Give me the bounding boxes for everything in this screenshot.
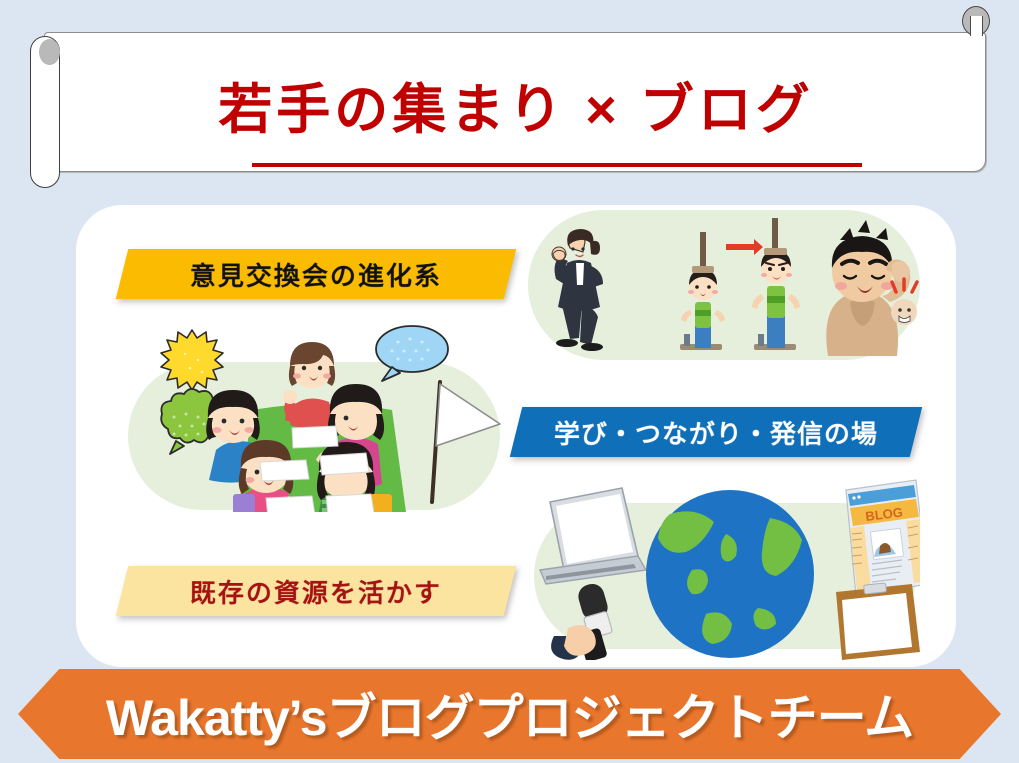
banner-learn-label: 学び・つながり・発信の場 [554,414,878,451]
banner-resource: 既存の資源を活かす [116,566,516,616]
muscular-man-flexing-icon [826,220,917,356]
footer-banner: Wakatty’sブログプロジェクトチーム [18,669,1001,759]
scroll-paper: 若手の集まり × ブログ [44,32,986,172]
outreach-illustration: BLOG [520,478,920,660]
clipboard-icon [836,583,920,660]
workshop-discussion-icon [206,342,406,512]
meeting-illustration [140,322,510,512]
banner-learn: 学び・つながり・発信の場 [510,407,922,457]
laptop-icon [540,488,646,584]
scroll-roll-left-icon [30,36,60,188]
team-name: Wakatty’sブログプロジェクトチーム [106,678,913,750]
blue-speech-bubble-icon [376,326,448,381]
globe-earth-icon [646,490,814,658]
header-scroll-banner: 若手の集まり × ブログ [0,0,1019,196]
banner-ideas-label: 意見交換会の進化系 [190,256,442,293]
businesswoman-cheering-icon [552,229,603,351]
banner-ideas: 意見交換会の進化系 [116,249,516,299]
pennant-flag-icon [432,382,500,502]
starburst-icon [161,330,223,390]
blog-webpage-icon: BLOG [846,480,920,596]
children-height-growth-icon [680,218,800,350]
banner-resource-label: 既存の資源を活かす [190,573,442,610]
growth-illustration [540,206,920,364]
microphone-in-hand-icon [551,581,612,660]
page-title: 若手の集まり × ブログ [45,83,987,137]
scroll-roll-right-icon [962,6,990,36]
title-underline [252,163,862,167]
